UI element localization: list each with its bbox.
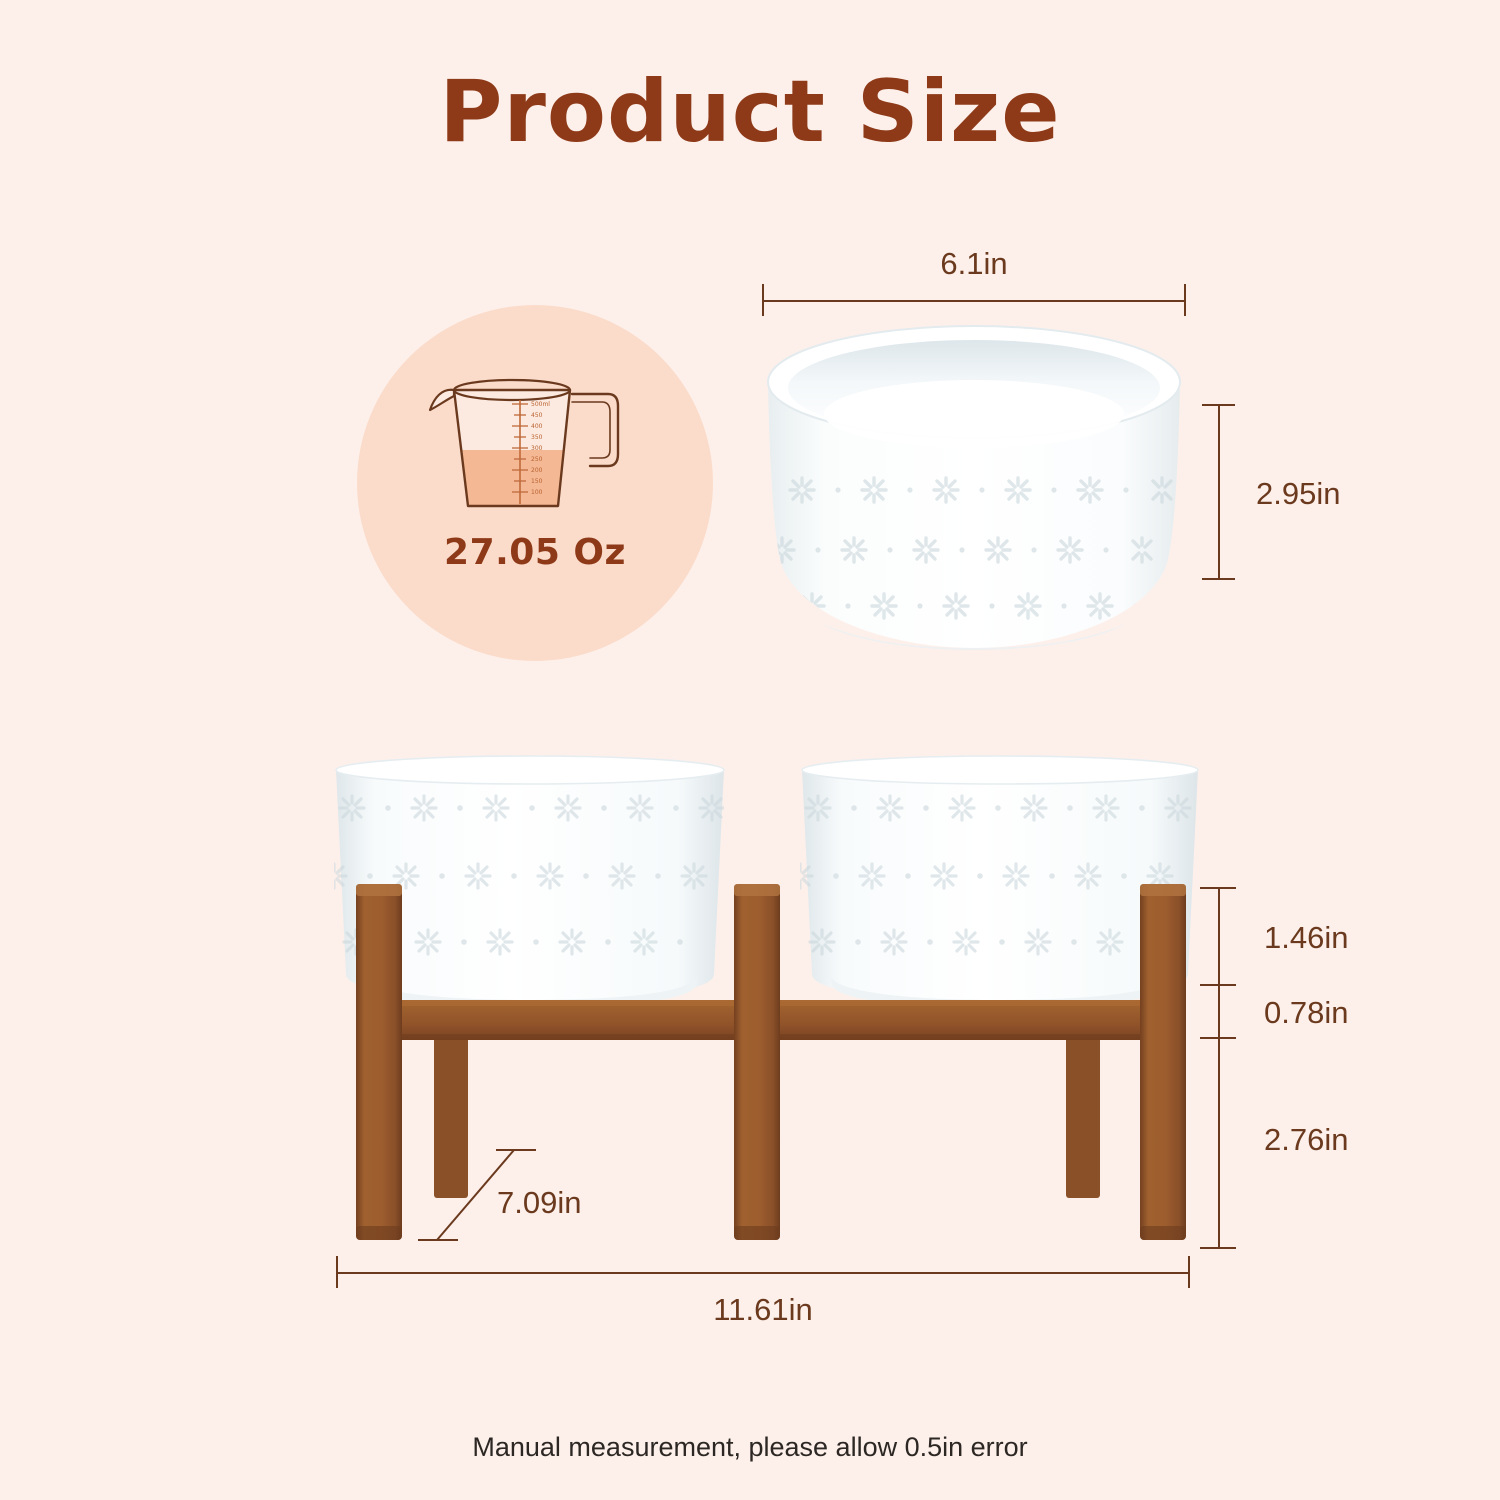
svg-text:350: 350 [531,434,543,441]
bowl-diameter-label: 6.1in [762,246,1186,282]
bowl-height-dimension-line [1218,404,1220,579]
stand-width-dimension-line [336,1272,1190,1274]
bowl-top-view-image [762,318,1186,663]
svg-text:100: 100 [531,489,543,496]
frame-rail-height-label: 0.78in [1264,995,1348,1031]
leg-height-label: 2.76in [1264,1122,1348,1158]
svg-text:500ml: 500ml [531,401,550,408]
svg-text:150: 150 [531,478,543,485]
page-title: Product Size [0,62,1500,162]
capacity-value-label: 27.05 Oz [357,532,713,573]
stand-depth-label: 7.09in [497,1185,581,1221]
bowl-diameter-dimension-line [762,300,1186,302]
svg-text:300: 300 [531,445,543,452]
stand-tick-mid-upper [1200,984,1236,986]
svg-text:200: 200 [531,467,543,474]
stand-width-tick-right [1188,1256,1190,1288]
stand-height-dimension-line [1218,887,1220,1248]
stand-tick-mid-lower [1200,1037,1236,1039]
bowl-diameter-tick-right [1184,284,1186,316]
bowl-height-tick-top [1202,404,1235,406]
stand-width-tick-left [336,1256,338,1288]
stand-tick-bottom [1200,1247,1236,1249]
measuring-cup-icon: 500ml 450 400 350 300 250 200 150 100 [412,358,662,538]
bowl-exposed-height-label: 1.46in [1264,920,1348,956]
stand-width-label: 11.61in [336,1292,1190,1328]
stand-tick-top [1200,887,1236,889]
product-size-infographic: Product Size [0,0,1500,1500]
bowl-diameter-tick-left [762,284,764,316]
measurement-disclaimer: Manual measurement, please allow 0.5in e… [0,1432,1500,1463]
svg-text:400: 400 [531,423,543,430]
svg-text:250: 250 [531,456,543,463]
bowl-height-tick-bottom [1202,578,1235,580]
svg-text:450: 450 [531,412,543,419]
bowl-height-label: 2.95in [1256,476,1340,512]
